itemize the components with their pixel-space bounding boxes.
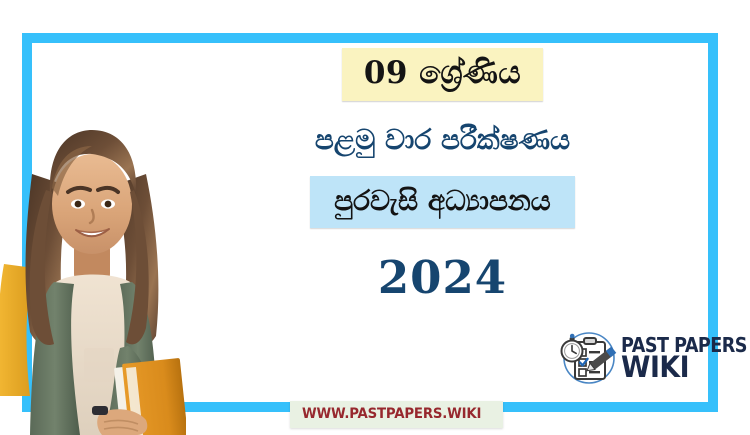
clipboard-stopwatch-pencil-icon — [558, 329, 620, 387]
student-photo — [0, 96, 186, 435]
exam-label: පළමු වාර පරීක්ෂණය — [315, 126, 570, 154]
subject-label: පුරවැසි අධ්‍යාපනය — [310, 176, 575, 228]
year-label: 2024 — [378, 255, 507, 300]
logo-wordmark: PAST PAPERS WIKI — [621, 337, 750, 379]
past-papers-wiki-logo[interactable]: PAST PAPERS WIKI — [558, 327, 716, 389]
website-url-text: WWW.PASTPAPERS.WIKI — [302, 406, 481, 422]
grade-label: 09 ශ්‍රේණිය — [342, 48, 543, 101]
logo-line-2: WIKI — [621, 355, 689, 379]
exam-paper-cover: 09 ශ්‍රේණිය පළමු වාර පරීක්ෂණය පුරවැසි අධ… — [0, 0, 750, 435]
title-block: 09 ශ්‍රේණිය පළමු වාර පරීක්ෂණය පුරවැසි අධ… — [175, 43, 710, 343]
website-url-banner[interactable]: WWW.PASTPAPERS.WIKI — [290, 401, 503, 428]
